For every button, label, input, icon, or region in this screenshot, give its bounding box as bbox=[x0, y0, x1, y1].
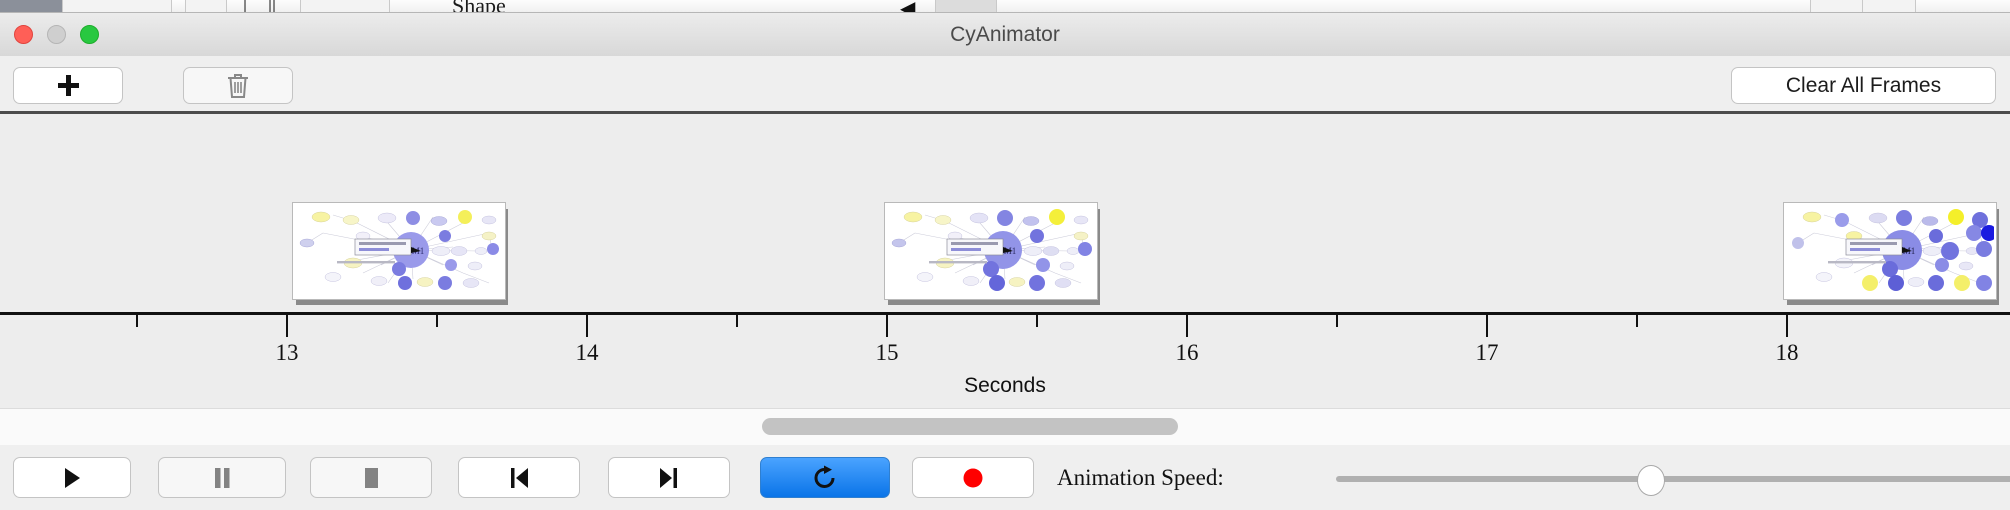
timeline-frame[interactable]: MCM1 bbox=[884, 202, 1096, 298]
ruler-tick-minor bbox=[136, 315, 138, 327]
play-icon bbox=[61, 466, 83, 490]
ruler-tick-major bbox=[1786, 315, 1788, 337]
toolbar: Clear All Frames bbox=[0, 56, 2010, 112]
ruler-tick-major bbox=[286, 315, 288, 337]
transport-bar: Animation Speed: bbox=[0, 445, 2010, 510]
delete-frame-button[interactable] bbox=[183, 67, 293, 104]
animation-speed-slider-thumb[interactable] bbox=[1637, 465, 1665, 496]
ruler-tick-major bbox=[1486, 315, 1488, 337]
loop-icon bbox=[812, 465, 838, 491]
skip-forward-icon bbox=[657, 466, 681, 490]
ruler-tick-label: 15 bbox=[876, 340, 899, 366]
horizontal-scrollbar[interactable] bbox=[0, 408, 2010, 446]
frame-thumbnail: MCM1 bbox=[292, 202, 506, 300]
timeline-panel[interactable]: MCM1 bbox=[0, 111, 2010, 315]
ruler-tick-major bbox=[586, 315, 588, 337]
timeline-frame[interactable]: MCM1 bbox=[1783, 202, 1995, 298]
ruler-tick-major bbox=[886, 315, 888, 337]
network-graph-thumbnail: MCM1 bbox=[1784, 203, 1994, 297]
background-window-strip: | || Shape ◀ bbox=[0, 0, 2010, 13]
trash-icon bbox=[225, 72, 251, 100]
ruler-tick-minor bbox=[1036, 315, 1038, 327]
network-graph-thumbnail: MCM1 bbox=[885, 203, 1095, 297]
skip-forward-button[interactable] bbox=[608, 457, 730, 498]
cyanimator-window: | || Shape ◀ CyAnimator Clear All Frames bbox=[0, 0, 2010, 510]
network-graph-thumbnail: MCM1 bbox=[293, 203, 503, 297]
record-button[interactable] bbox=[912, 457, 1034, 498]
play-button[interactable] bbox=[13, 457, 131, 498]
ruler-tick-label: 18 bbox=[1776, 340, 1799, 366]
ruler-tick-label: 14 bbox=[576, 340, 599, 366]
add-frame-button[interactable] bbox=[13, 67, 123, 104]
plus-icon bbox=[58, 75, 79, 96]
ruler-tick-label: 13 bbox=[276, 340, 299, 366]
pause-button[interactable] bbox=[158, 457, 286, 498]
ruler-axis-line bbox=[0, 312, 2010, 315]
loop-button[interactable] bbox=[760, 457, 890, 498]
scrollbar-thumb[interactable] bbox=[762, 418, 1178, 435]
ruler-tick-minor bbox=[736, 315, 738, 327]
animation-speed-label: Animation Speed: bbox=[1057, 457, 1224, 498]
ruler-tick-major bbox=[1186, 315, 1188, 337]
ruler-tick-minor bbox=[1336, 315, 1338, 327]
record-icon bbox=[961, 466, 985, 490]
ruler-axis-title: Seconds bbox=[0, 374, 2010, 398]
ruler-tick-minor bbox=[436, 315, 438, 327]
ruler-tick-minor bbox=[1636, 315, 1638, 327]
timeline-ruler[interactable]: 12131415161718 Seconds bbox=[0, 312, 2010, 408]
stop-button[interactable] bbox=[310, 457, 432, 498]
frame-thumbnail: MCM1 bbox=[1783, 202, 1997, 300]
ruler-tick-label: 16 bbox=[1176, 340, 1199, 366]
clear-all-frames-button[interactable]: Clear All Frames bbox=[1731, 67, 1996, 104]
skip-back-icon bbox=[507, 466, 531, 490]
stop-icon bbox=[361, 466, 381, 490]
frame-thumbnail: MCM1 bbox=[884, 202, 1098, 300]
skip-back-button[interactable] bbox=[458, 457, 580, 498]
window-title: CyAnimator bbox=[0, 13, 2010, 56]
timeline-frame[interactable]: MCM1 bbox=[292, 202, 504, 298]
animation-speed-slider[interactable] bbox=[1336, 476, 2010, 482]
pause-icon bbox=[212, 466, 232, 490]
ruler-tick-label: 17 bbox=[1476, 340, 1499, 366]
